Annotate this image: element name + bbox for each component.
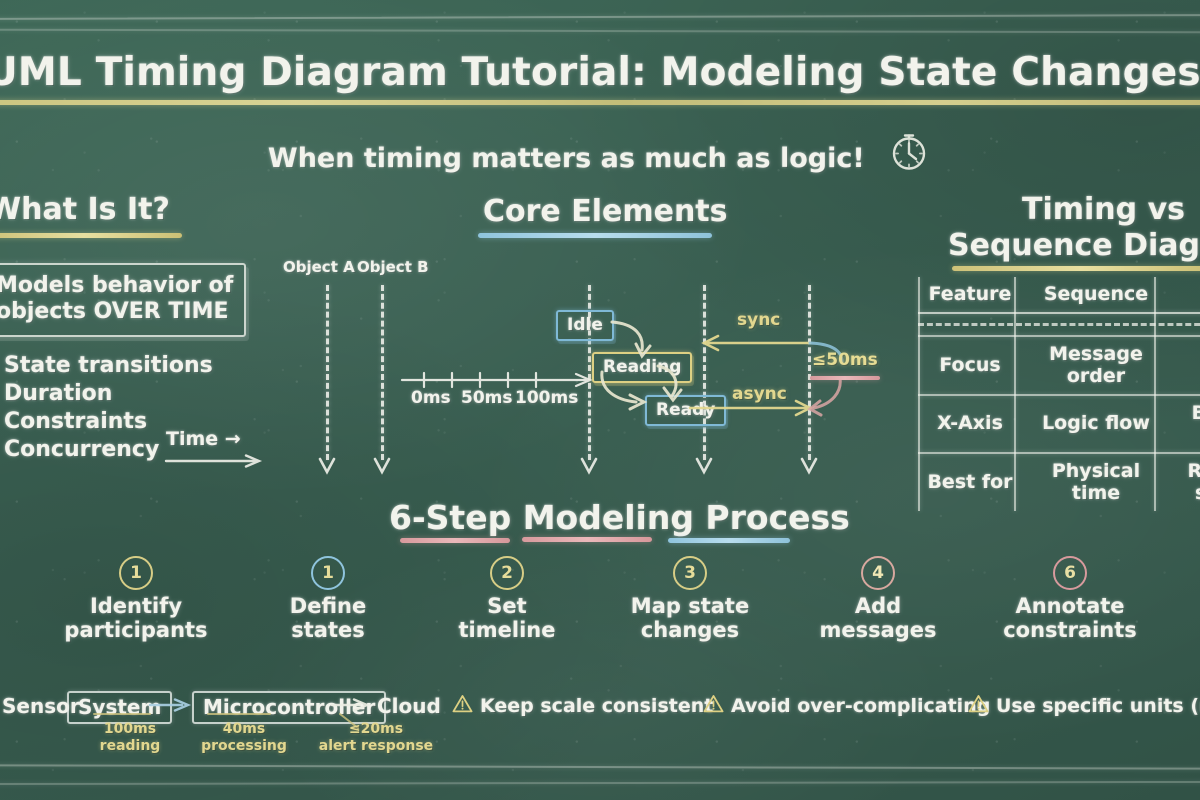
step-number-badge: 4: [861, 556, 895, 590]
stopwatch-icon: [886, 128, 932, 181]
what-is-it-underline: [0, 233, 182, 238]
flow-note-value: 40ms: [194, 721, 294, 738]
table-header-sequence: Sequence: [1022, 277, 1170, 312]
definition-line-1: Models behavior of: [0, 273, 234, 299]
table-cell-timing: Business time: [1170, 396, 1200, 453]
flow-note-1: 100ms reading: [85, 721, 175, 755]
flow-note-3: ≤20ms alert response: [317, 721, 435, 755]
process-step-5[interactable]: 4 Add messages: [803, 556, 953, 643]
core-elements-underline: [478, 233, 712, 238]
definition-line-2: objects OVER TIME: [0, 299, 234, 325]
table-cell-feature: X-Axis: [918, 396, 1022, 453]
table-header-feature: Feature: [918, 277, 1022, 312]
warning-item-1: Keep scale consistent: [452, 694, 713, 718]
table-cell-feature: Focus: [918, 337, 1022, 394]
frame-line-top: [0, 14, 1200, 20]
process-step-4[interactable]: 3 Map state changes: [615, 556, 765, 643]
comparison-table: Feature Sequence Timing Focus Message or…: [918, 277, 1200, 511]
step-number: 2: [501, 563, 513, 583]
table-cell-timing: State timing: [1170, 337, 1200, 394]
flow-note-2: 40ms processing: [194, 721, 294, 755]
step-label-line-2: changes: [615, 618, 765, 642]
warning-item-2: Avoid over-complicating: [703, 694, 990, 718]
step-number: 1: [130, 563, 142, 583]
table-hline-2: [918, 394, 1200, 396]
section-heading-core-elements: Core Elements: [483, 194, 728, 229]
step-number: 6: [1064, 563, 1076, 583]
table-cell-timing: Real-time systems: [1170, 454, 1200, 511]
process-step-6[interactable]: 6 Annotate constraints: [995, 556, 1145, 643]
process-underline-seg-3: [668, 538, 790, 543]
lifeline-label-object-a: Object A: [283, 258, 355, 276]
section-heading-comparison-line-1: Timing vs: [1022, 192, 1185, 227]
axis-tick-label-0ms: 0ms: [411, 388, 451, 408]
table-cell-feature: Best for: [918, 454, 1022, 511]
table-hline-1: [918, 335, 1200, 337]
flow-note-label: alert response: [317, 738, 435, 755]
table-hline-3: [918, 452, 1200, 454]
step-label-line-2: participants: [61, 618, 211, 642]
chalkboard: UML Timing Diagram Tutorial: Modeling St…: [0, 0, 1200, 800]
step-label-line-1: Define: [253, 594, 403, 618]
table-header-timing: Timing: [1170, 277, 1200, 312]
frame-line-bottom: [0, 764, 1200, 769]
comparison-underline: [952, 266, 1200, 271]
step-number-badge: 6: [1053, 556, 1087, 590]
lifeline-label-object-b: Object B: [357, 258, 429, 276]
flow-note-label: processing: [194, 738, 294, 755]
process-underline-seg-2: [522, 537, 652, 542]
warning-triangle-icon: [452, 694, 473, 718]
warning-text: Avoid over-complicating: [731, 695, 990, 717]
step-label-line-1: Set: [432, 594, 582, 618]
process-step-1[interactable]: 1 Identify participants: [61, 556, 211, 643]
table-dashed-divider: [918, 323, 1200, 326]
step-number-badge: 2: [490, 556, 524, 590]
page-subtitle: When timing matters as much as logic!: [0, 128, 1200, 181]
table-cell-sequence: Physical time: [1022, 454, 1170, 511]
section-heading-process: 6-Step Modeling Process: [389, 498, 850, 537]
warning-text: Use specific units (ms/s): [996, 695, 1200, 717]
time-axis-label: Time →: [166, 428, 241, 450]
constraint-underline: [810, 376, 880, 380]
section-heading-comparison-line-2: Sequence Diagram: [948, 228, 1200, 263]
table-cell-sequence: Logic flow: [1022, 396, 1170, 453]
lifeline-object-a: [326, 285, 329, 460]
flow-note-label: reading: [85, 738, 175, 755]
frame-line-top-2: [0, 29, 1200, 34]
table-row: Best for Physical time Real-time systems: [918, 454, 1200, 511]
title-underline: [0, 100, 1200, 105]
flow-note-value: ≤20ms: [317, 721, 435, 738]
section-heading-what-is-it: What Is It?: [0, 192, 170, 227]
table-cell-sequence: Message order: [1022, 337, 1170, 394]
step-number-badge: 3: [673, 556, 707, 590]
warning-triangle-icon: [968, 694, 989, 718]
step-label-line-1: Identify: [61, 594, 211, 618]
step-number: 1: [322, 563, 334, 583]
subtitle-text: When timing matters as much as logic!: [268, 143, 865, 174]
table-row: X-Axis Logic flow Business time: [918, 396, 1200, 453]
process-step-2[interactable]: 1 Define states: [253, 556, 403, 643]
table-row: Focus Message order State timing: [918, 337, 1200, 394]
step-label-line-2: constraints: [995, 618, 1145, 642]
step-label-line-2: states: [253, 618, 403, 642]
process-underline-seg-1: [400, 538, 510, 543]
warning-triangle-icon: [703, 694, 724, 718]
lifeline-object-b: [381, 285, 384, 460]
step-label-line-2: timeline: [432, 618, 582, 642]
axis-tick-label-50ms: 50ms: [461, 388, 513, 408]
warning-item-3: Use specific units (ms/s): [968, 694, 1200, 718]
bullet-item: State transitions: [4, 352, 213, 380]
step-label-line-2: messages: [803, 618, 953, 642]
table-hline-header: [918, 312, 1200, 314]
step-label-line-1: Annotate: [995, 594, 1145, 618]
step-label-line-1: Map state: [615, 594, 765, 618]
step-number-badge: 1: [119, 556, 153, 590]
constraint-label: ≤50ms: [812, 350, 878, 370]
warning-text: Keep scale consistent: [480, 695, 713, 717]
page-title: UML Timing Diagram Tutorial: Modeling St…: [0, 50, 1200, 95]
step-label-line-1: Add: [803, 594, 953, 618]
frame-line-bottom-2: [0, 781, 1200, 785]
step-number: 3: [684, 563, 696, 583]
bullet-item: Duration: [4, 380, 213, 408]
table-header-row: Feature Sequence Timing: [918, 277, 1200, 312]
step-number: 4: [872, 563, 884, 583]
process-step-3[interactable]: 2 Set timeline: [432, 556, 582, 643]
step-number-badge: 1: [311, 556, 345, 590]
flow-note-value: 100ms: [85, 721, 175, 738]
definition-box: Models behavior of objects OVER TIME: [0, 263, 246, 337]
